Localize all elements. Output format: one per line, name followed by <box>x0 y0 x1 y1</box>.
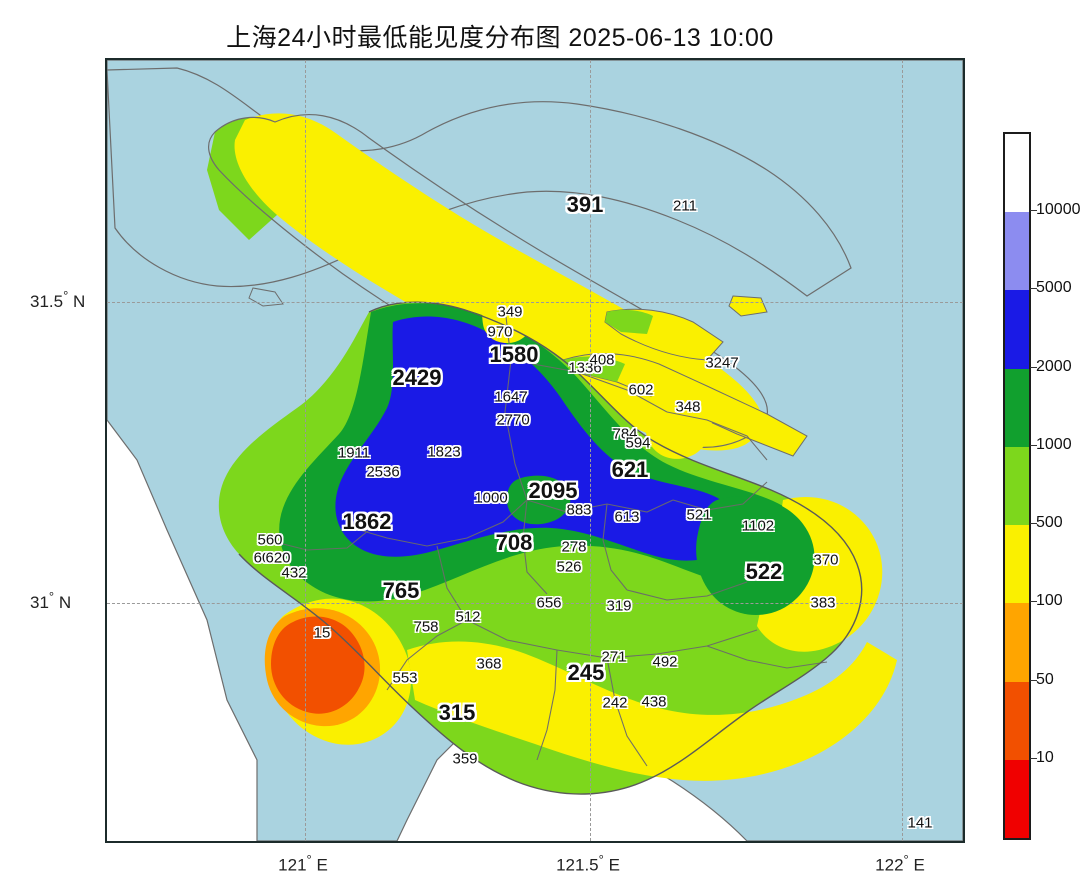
station-value: 1911 <box>338 445 370 462</box>
colorbar-tick-label: 50 <box>1036 671 1054 689</box>
station-value: 383 <box>810 595 835 612</box>
gridline-lon-122 <box>902 60 903 841</box>
station-value: 315 <box>439 700 476 726</box>
station-value: 245 <box>568 660 605 686</box>
station-value: 613 <box>614 509 639 526</box>
colorbar-tick-label: 5000 <box>1036 279 1072 297</box>
colorbar-tick-label: 2000 <box>1036 358 1072 376</box>
station-value: 141 <box>907 815 932 832</box>
station-value: 370 <box>813 552 838 569</box>
station-value: 1823 <box>427 444 460 461</box>
y-tick-label: 31.5° N <box>30 288 85 312</box>
colorbar-tick-label: 10 <box>1036 749 1054 767</box>
station-value: 522 <box>746 559 783 585</box>
station-value: 438 <box>641 694 666 711</box>
station-value: 492 <box>652 654 677 671</box>
station-value: 349 <box>497 304 522 321</box>
station-value: 1102 <box>742 518 774 535</box>
colorbar-tick-label: 10000 <box>1036 201 1080 219</box>
colorbar-segment-5000_10000 <box>1005 212 1029 290</box>
station-value: 602 <box>628 382 653 399</box>
colorbar-tick-label: 100 <box>1036 592 1063 610</box>
station-value: 512 <box>455 609 480 626</box>
station-value: 368 <box>476 656 501 673</box>
station-value: 432 <box>281 565 306 582</box>
gridline-lat-315 <box>107 302 963 303</box>
gridline-lon-121 <box>305 60 306 841</box>
station-value: 1580 <box>490 342 539 368</box>
colorbar[interactable] <box>1003 132 1031 840</box>
x-tick-label: 122° E <box>875 852 925 876</box>
station-value: 883 <box>566 502 591 519</box>
colorbar-segment-lt10 <box>1005 760 1029 838</box>
colorbar-segment-10_50 <box>1005 682 1029 760</box>
x-tick-label: 121° E <box>278 852 328 876</box>
station-value: 765 <box>383 578 420 604</box>
station-value: 408 <box>589 352 614 369</box>
colorbar-segment-50_100 <box>1005 603 1029 681</box>
zone-100-500-ne-patch <box>645 386 712 458</box>
station-value: 1000 <box>474 490 507 507</box>
station-value: 3247 <box>705 355 738 372</box>
colorbar-segment-1000_2000 <box>1005 369 1029 447</box>
page-title: 上海24小时最低能见度分布图 2025-06-13 10:00 <box>0 18 1000 54</box>
station-value: 560 <box>257 532 282 549</box>
station-value: 2095 <box>529 478 578 504</box>
station-value: 2536 <box>366 464 399 481</box>
station-value: 278 <box>561 539 586 556</box>
station-value: 15 <box>314 625 331 642</box>
x-tick-label: 121.5° E <box>556 852 620 876</box>
station-value: 211 <box>673 198 697 215</box>
station-value: 2429 <box>393 365 442 391</box>
colorbar-segment-2000_5000 <box>1005 290 1029 368</box>
colorbar-segment-gt10000 <box>1005 134 1029 212</box>
station-value: 242 <box>602 695 627 712</box>
station-value: 1862 <box>343 509 392 535</box>
station-value: 526 <box>556 559 581 576</box>
station-value: 271 <box>601 649 626 666</box>
map-graphic <box>107 60 963 841</box>
colorbar-tick-label: 1000 <box>1036 436 1072 454</box>
station-value: 970 <box>487 324 512 341</box>
station-value: 521 <box>686 507 711 524</box>
station-value: 708 <box>496 530 533 556</box>
station-value: 359 <box>452 751 477 768</box>
visibility-map: 3912113247349970158024291336408602348164… <box>105 58 965 843</box>
station-value: 319 <box>606 598 631 615</box>
station-value: 594 <box>625 435 650 452</box>
station-value: 391 <box>567 192 604 218</box>
station-value: 348 <box>675 399 700 416</box>
gridline-lon-1215 <box>590 60 591 841</box>
colorbar-segment-100_500 <box>1005 525 1029 603</box>
station-value: 1647 <box>494 389 527 406</box>
colorbar-tick-label: 500 <box>1036 514 1063 532</box>
station-value: 2770 <box>496 412 529 429</box>
colorbar-segment-500_1000 <box>1005 447 1029 525</box>
station-value: 656 <box>536 595 561 612</box>
station-value: 553 <box>392 670 417 687</box>
station-value: 758 <box>413 619 438 636</box>
y-tick-label: 31° N <box>30 589 71 613</box>
station-value: 621 <box>612 457 649 483</box>
